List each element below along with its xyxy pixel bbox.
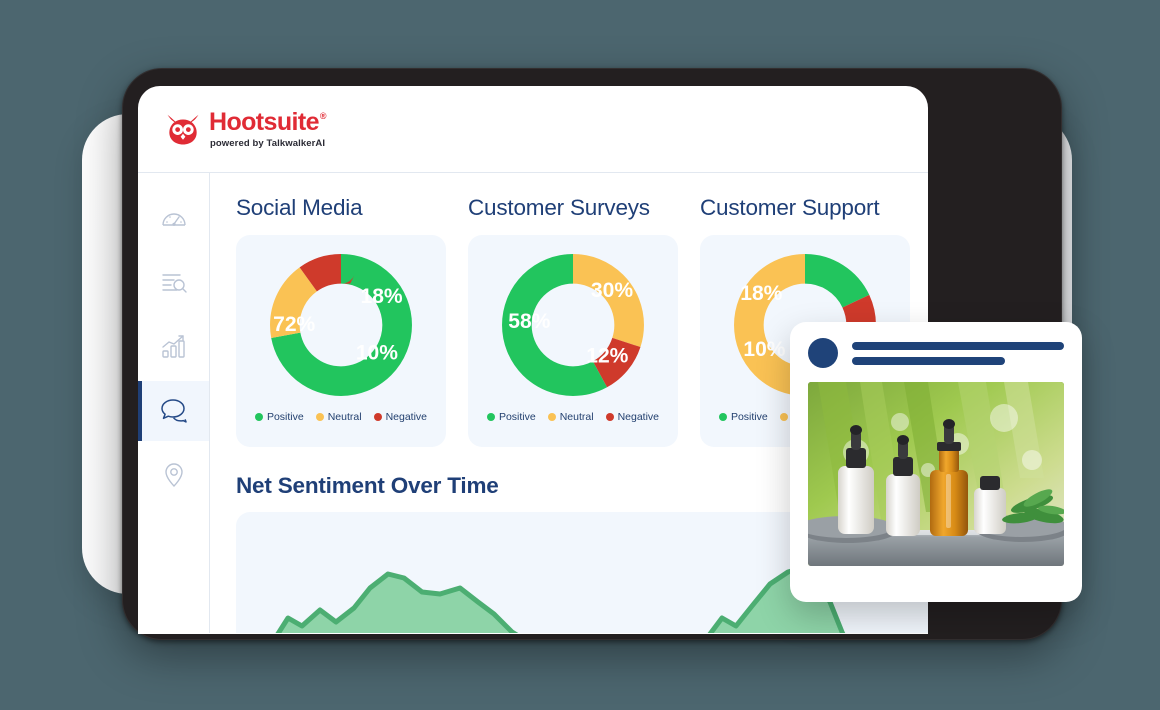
legend-label-positive: Positive xyxy=(731,411,768,423)
donut-label-positive: 18% xyxy=(740,282,782,305)
legend-label-neutral: Neutral xyxy=(328,411,362,423)
legend-label-neutral: Neutral xyxy=(560,411,594,423)
legend-dot-neutral xyxy=(316,413,324,421)
legend-dot-neutral xyxy=(780,413,788,421)
legend-dot-positive xyxy=(719,413,727,421)
page-title: Customer Support xyxy=(700,195,910,221)
post-image[interactable] xyxy=(808,382,1064,566)
donut-label-neutral: 18% xyxy=(360,285,402,308)
sidebar-item-analytics[interactable] xyxy=(138,317,209,377)
page-title: Social Media xyxy=(236,195,446,221)
brand-name: Hootsuite® xyxy=(209,110,326,135)
sidebar-item-dashboard[interactable] xyxy=(138,189,209,249)
legend-label-negative: Negative xyxy=(618,411,659,423)
chart-legend: Positive Neutral Negative xyxy=(255,411,427,423)
legend-item-neutral[interactable]: Neutral xyxy=(548,411,594,423)
legend-label-positive: Positive xyxy=(267,411,304,423)
donut-chart-card: 72% 18% 10% Positive xyxy=(236,235,446,447)
owl-logo-icon xyxy=(164,110,202,148)
post-line-2 xyxy=(852,357,1005,365)
donut-chart-card: 58% 30% 12% Positive xyxy=(468,235,678,447)
legend-dot-neutral xyxy=(548,413,556,421)
donut-label-positive: 72% xyxy=(273,313,315,336)
legend-item-negative[interactable]: Negative xyxy=(374,411,427,423)
donut-label-neutral: 30% xyxy=(591,279,633,302)
post-text-placeholder xyxy=(852,342,1064,365)
page-title: Customer Surveys xyxy=(468,195,678,221)
chat-bubbles-icon xyxy=(159,396,189,426)
panel-social-media: Social Media 72% 18% 10% xyxy=(236,195,446,447)
speedometer-icon xyxy=(160,205,188,233)
avatar[interactable] xyxy=(808,338,838,368)
legend-item-positive[interactable]: Positive xyxy=(255,411,304,423)
location-pin-icon xyxy=(160,461,188,489)
brand-text: Hootsuite® powered by TalkwalkerAI xyxy=(209,110,326,149)
registered-mark: ® xyxy=(320,112,326,121)
legend-dot-negative xyxy=(606,413,614,421)
sidebar-item-locations[interactable] xyxy=(138,445,209,505)
screenshot-stage: Hootsuite® powered by TalkwalkerAI xyxy=(0,0,1160,710)
donut-chart-customer-surveys[interactable]: 58% 30% 12% xyxy=(495,247,651,403)
social-post-card[interactable] xyxy=(790,322,1082,602)
donut-label-positive: 58% xyxy=(508,310,550,333)
donut-label-negative: 10% xyxy=(356,341,398,364)
chart-legend: Positive Neutral Negative xyxy=(487,411,659,423)
legend-label-negative: Negative xyxy=(386,411,427,423)
legend-label-positive: Positive xyxy=(499,411,536,423)
legend-dot-negative xyxy=(374,413,382,421)
donut-label-negative: 10% xyxy=(743,338,785,361)
brand-logo[interactable]: Hootsuite® powered by TalkwalkerAI xyxy=(164,110,326,149)
legend-item-neutral[interactable]: Neutral xyxy=(316,411,362,423)
app-header: Hootsuite® powered by TalkwalkerAI xyxy=(138,86,928,173)
bar-chart-icon xyxy=(160,333,188,361)
donut-label-negative: 12% xyxy=(586,344,628,367)
brand-wordmark: Hootsuite xyxy=(209,110,319,135)
panel-customer-surveys: Customer Surveys 58% 30% xyxy=(468,195,678,447)
legend-item-positive[interactable]: Positive xyxy=(487,411,536,423)
donut-chart-social-media[interactable]: 72% 18% 10% xyxy=(263,247,419,403)
post-header xyxy=(808,338,1064,368)
post-line-1 xyxy=(852,342,1064,350)
legend-item-positive[interactable]: Positive xyxy=(719,411,768,423)
search-list-icon xyxy=(160,269,188,297)
sidebar-nav xyxy=(138,173,210,633)
legend-dot-positive xyxy=(487,413,495,421)
brand-tagline: powered by TalkwalkerAI xyxy=(210,139,326,149)
sidebar-item-search[interactable] xyxy=(138,253,209,313)
legend-item-negative[interactable]: Negative xyxy=(606,411,659,423)
sidebar-item-conversations[interactable] xyxy=(138,381,209,441)
legend-dot-positive xyxy=(255,413,263,421)
